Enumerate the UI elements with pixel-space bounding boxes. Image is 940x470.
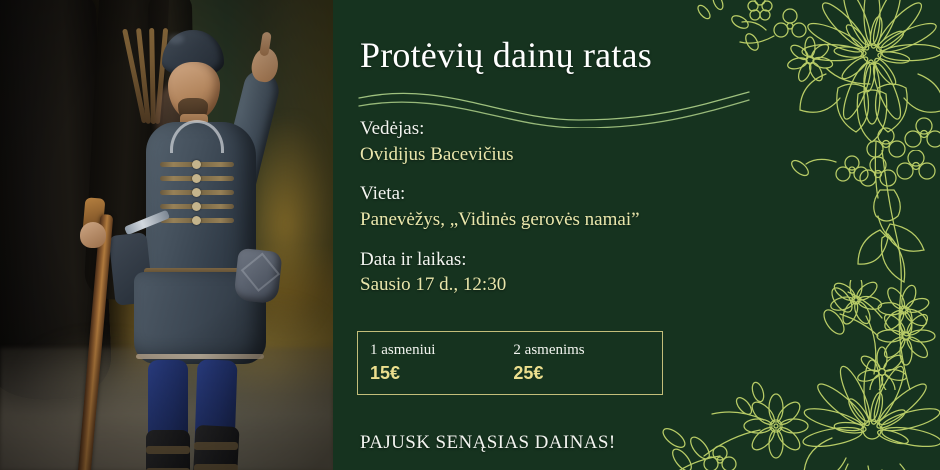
price-cell-single: 1 asmeniui 15€ (358, 341, 435, 385)
poster-title: Protėvių dainų ratas (360, 36, 652, 76)
price-amount: 25€ (513, 361, 584, 385)
detail-row-datetime: Data ir laikas: Sausio 17 d., 12:30 (360, 247, 760, 298)
detail-label: Vedėjas: (360, 116, 760, 142)
detail-row-host: Vedėjas: Ovidijus Bacevičius (360, 116, 760, 167)
price-amount: 15€ (370, 361, 435, 385)
detail-value: Ovidijus Bacevičius (360, 142, 760, 168)
price-label: 1 asmeniui (370, 341, 435, 361)
performer-photo (0, 0, 333, 470)
photo-vignette (0, 0, 333, 470)
price-box: 1 asmeniui 15€ 2 asmenims 25€ (357, 331, 663, 395)
poster-tagline: PAJUSK SENĄSIAS DAINAS! (360, 432, 616, 454)
detail-label: Data ir laikas: (360, 247, 760, 273)
detail-label: Vieta: (360, 181, 760, 207)
detail-value: Panevėžys, „Vidinės gerovės namai” (360, 207, 760, 233)
price-cell-double: 2 asmenims 25€ (435, 341, 584, 385)
price-label: 2 asmenims (513, 341, 584, 361)
detail-value: Sausio 17 d., 12:30 (360, 272, 760, 298)
event-poster: Protėvių dainų ratas Vedėjas: Ovidijus B… (0, 0, 940, 470)
floral-ornament-right-middle-icon (820, 150, 940, 390)
detail-row-venue: Vieta: Panevėžys, „Vidinės gerovės namai… (360, 181, 760, 232)
detail-list: Vedėjas: Ovidijus Bacevičius Vieta: Pane… (360, 116, 760, 312)
info-panel: Protėvių dainų ratas Vedėjas: Ovidijus B… (333, 0, 940, 470)
